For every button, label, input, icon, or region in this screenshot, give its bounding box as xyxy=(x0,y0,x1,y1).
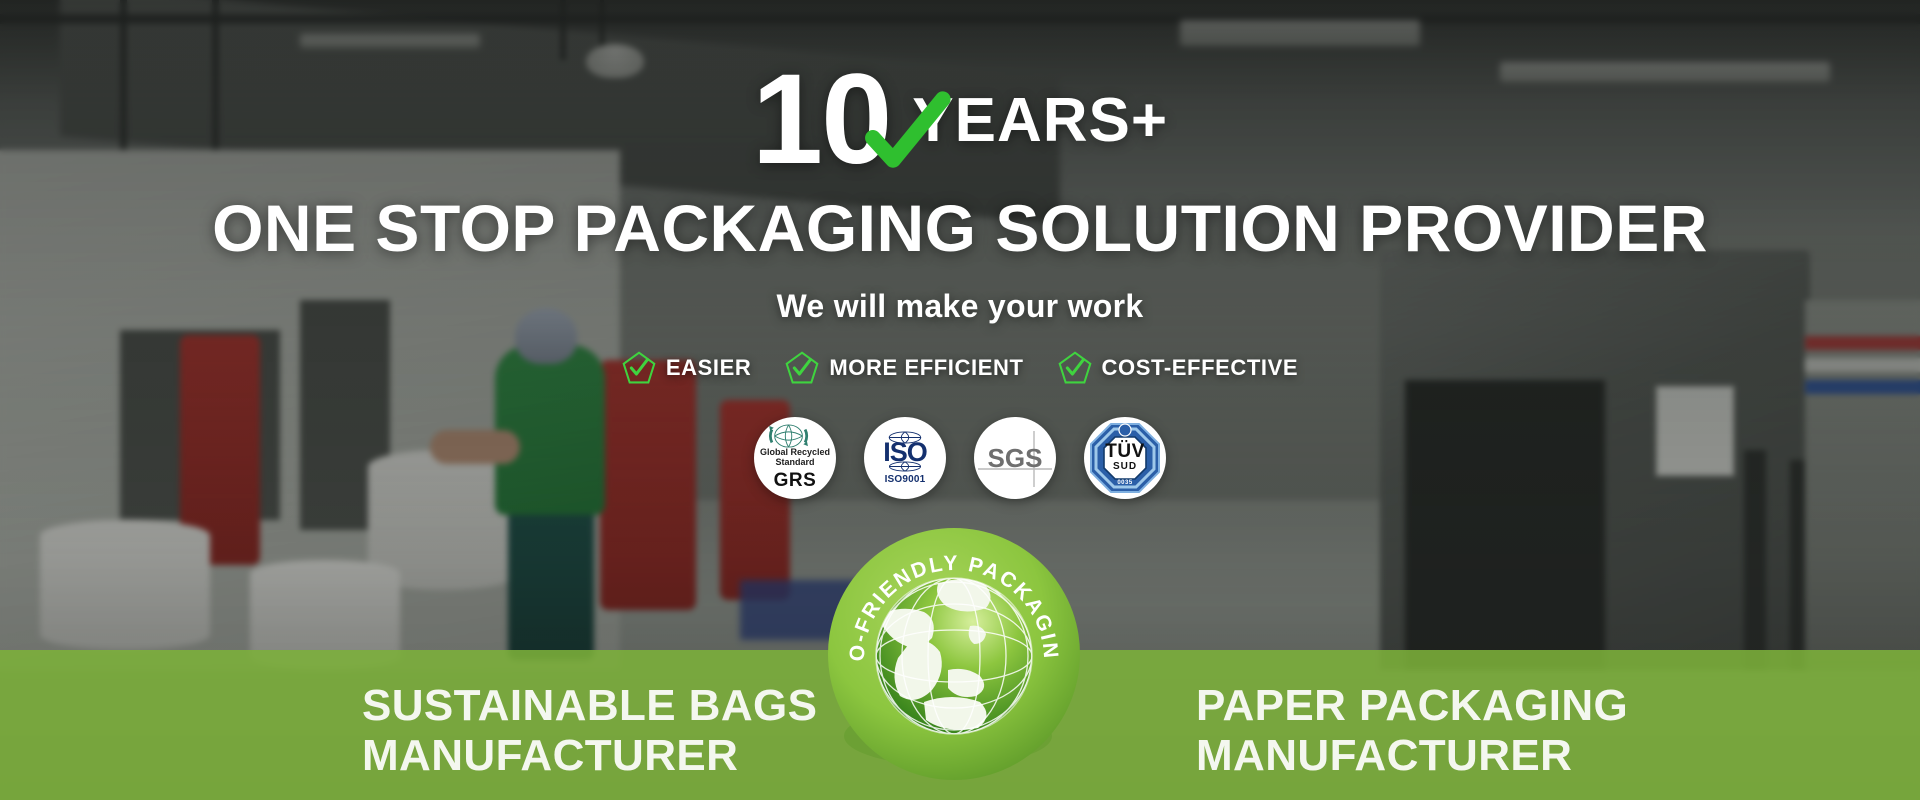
iso-standard-label: ISO9001 xyxy=(885,474,926,485)
eco-globe-icon: ECO-FRIENDLY PACKAGINGS xyxy=(820,520,1088,788)
hero-banner: 10 YEARS+ ONE STOP PACKAGING SOLUTION PR… xyxy=(0,0,1920,800)
hero-subtitle: We will make your work xyxy=(776,288,1143,325)
footer-text-left: SUSTAINABLE BAGS MANUFACTURER xyxy=(362,681,817,780)
certification-badges: Global Recycled Standard GRS ISO xyxy=(754,417,1166,499)
pentagon-check-icon xyxy=(622,351,656,385)
years-label: YEARS+ xyxy=(912,85,1168,156)
feature-label: EASIER xyxy=(666,355,752,381)
cert-badge-tuv: TÜV SUD 0035 xyxy=(1084,417,1166,499)
feature-item-cost-effective: COST-EFFECTIVE xyxy=(1058,351,1299,385)
page-title: ONE STOP PACKAGING SOLUTION PROVIDER xyxy=(212,190,1708,266)
footer-right-line2: MANUFACTURER xyxy=(1196,731,1628,780)
tuv-sublabel: SUD xyxy=(1113,461,1137,472)
footer-text-right: PAPER PACKAGING MANUFACTURER xyxy=(1196,681,1628,780)
grs-label: GRS xyxy=(774,470,817,492)
footer-right-line1: PAPER PACKAGING xyxy=(1196,681,1628,730)
feature-list: EASIER MORE EFFICIENT CO xyxy=(622,351,1298,385)
pentagon-check-icon xyxy=(785,351,819,385)
cert-badge-iso: ISO ISO9001 xyxy=(864,417,946,499)
footer-left-line2: MANUFACTURER xyxy=(362,731,817,780)
years-number: 10 xyxy=(752,56,890,184)
feature-label: MORE EFFICIENT xyxy=(829,355,1023,381)
tuv-code: 0035 xyxy=(1084,480,1166,486)
sgs-label: SGS xyxy=(988,443,1043,474)
cert-badge-grs: Global Recycled Standard GRS xyxy=(754,417,836,499)
years-badge: 10 YEARS+ xyxy=(752,56,1168,184)
cert-badge-sgs: SGS xyxy=(974,417,1056,499)
feature-item-more-efficient: MORE EFFICIENT xyxy=(785,351,1023,385)
iso-globe-icon-bottom xyxy=(877,461,933,472)
pentagon-check-icon xyxy=(1058,351,1092,385)
feature-label: COST-EFFECTIVE xyxy=(1102,355,1299,381)
grs-line2: Standard xyxy=(775,458,814,467)
footer-left-line1: SUSTAINABLE BAGS xyxy=(362,681,817,730)
grs-globe-arrows-icon xyxy=(762,424,828,448)
feature-item-easier: EASIER xyxy=(622,351,752,385)
tuv-label: TÜV xyxy=(1105,442,1145,461)
